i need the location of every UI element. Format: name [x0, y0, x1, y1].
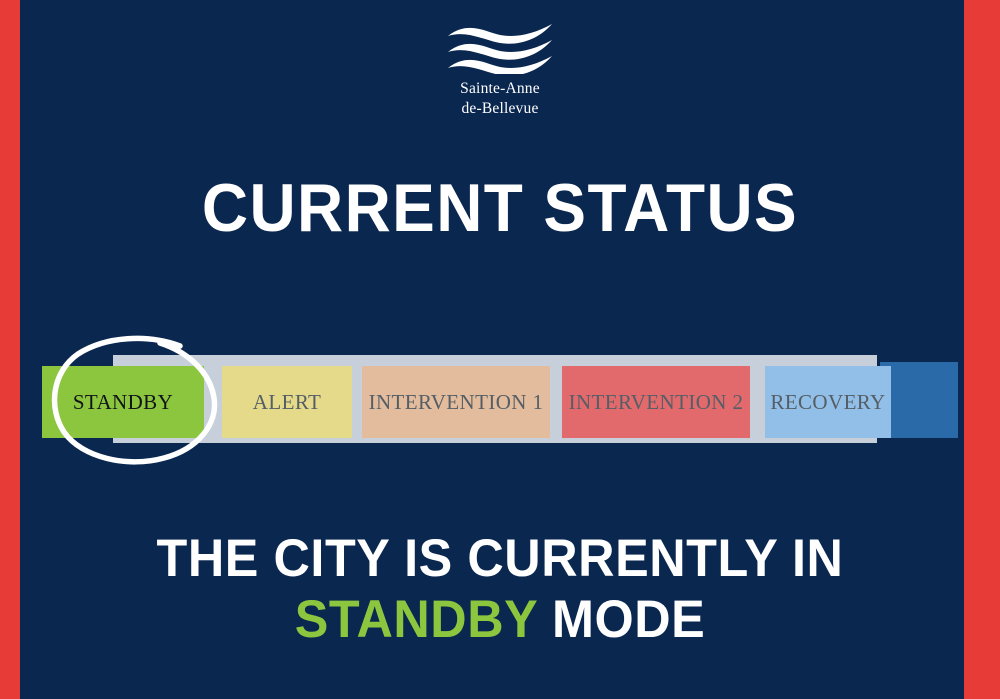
logo-wordmark: Sainte-Anne de-Bellevue [460, 79, 540, 118]
statement-highlight: STANDBY [295, 590, 538, 649]
city-logo: Sainte-Anne de-Bellevue [0, 22, 1000, 118]
status-level-standby[interactable]: STANDBY [42, 366, 204, 438]
status-poster: Sainte-Anne de-Bellevue CURRENT STATUS A… [0, 0, 1000, 699]
statement-suffix: MODE [552, 590, 705, 649]
status-level-intervention-2[interactable]: INTERVENTION 2 [562, 366, 750, 438]
page-title: CURRENT STATUS [30, 174, 970, 242]
statement-line-1: THE CITY IS CURRENTLY IN [25, 528, 975, 589]
waves-icon [442, 22, 558, 74]
status-level-recovery[interactable]: RECOVERY [765, 366, 891, 438]
logo-line-1: Sainte-Anne [460, 79, 540, 99]
scale-overflow-block [880, 362, 958, 438]
status-statement: THE CITY IS CURRENTLY IN STANDBY MODE [25, 528, 975, 651]
status-level-intervention-1[interactable]: INTERVENTION 1 [362, 366, 550, 438]
logo-line-2: de-Bellevue [460, 99, 540, 119]
status-level-alert[interactable]: ALERT [222, 366, 352, 438]
statement-line-2: STANDBY MODE [25, 589, 975, 650]
